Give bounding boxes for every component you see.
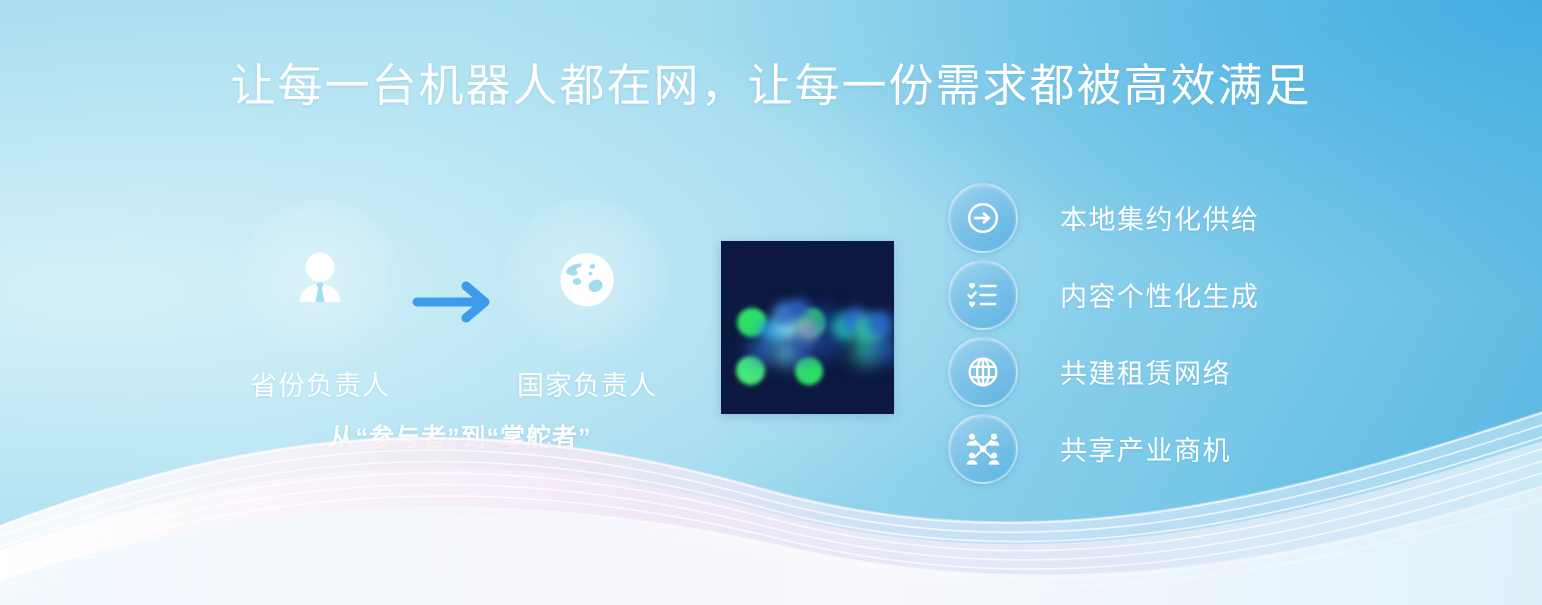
arrow-right-icon: [411, 274, 497, 330]
role-flow: 省份负责人 国家负责: [228, 196, 693, 476]
flow-caption: 从“参与者”到“掌舵者”: [228, 418, 693, 454]
bokeh-light: [867, 311, 893, 337]
feature-label: 共建租赁网络: [1060, 352, 1231, 391]
feature-item[interactable]: 内容个性化生成: [948, 257, 1378, 332]
bokeh-light: [795, 357, 823, 385]
feature-label: 本地集约化供给: [1060, 198, 1260, 237]
page-title: 让每一台机器人都在网，让每一份需求都被高效满足: [0, 58, 1542, 114]
globe-filled-icon: [502, 196, 672, 366]
feature-item[interactable]: 共建租赁网络: [948, 334, 1378, 409]
feature-label: 共享产业商机: [1060, 429, 1231, 468]
globe-outline-icon: [948, 337, 1018, 407]
bokeh-light: [817, 334, 839, 356]
role-to-label: 国家负责人: [502, 364, 672, 403]
arrow-in-circle-icon: [948, 183, 1018, 253]
person-in-suit-icon: [235, 196, 405, 366]
bokeh-light: [791, 337, 813, 359]
people-network-icon: [948, 414, 1018, 484]
feature-item[interactable]: 本地集约化供给: [948, 180, 1378, 255]
bokeh-light: [750, 338, 774, 362]
bokeh-light: [872, 336, 895, 360]
role-to: 国家负责人: [502, 196, 672, 403]
bokeh-lights-photo: [721, 241, 894, 414]
role-from-label: 省份负责人: [235, 364, 405, 403]
feature-item[interactable]: 共享产业商机: [948, 411, 1378, 486]
slide-canvas: 让每一台机器人都在网，让每一份需求都被高效满足 省份负责人: [0, 0, 1542, 605]
role-from: 省份负责人: [235, 196, 405, 403]
feature-list: 本地集约化供给内容个性化生成共建租赁网络共享产业商机: [948, 180, 1378, 488]
feature-label: 内容个性化生成: [1060, 275, 1260, 314]
checklist-icon: [948, 260, 1018, 330]
